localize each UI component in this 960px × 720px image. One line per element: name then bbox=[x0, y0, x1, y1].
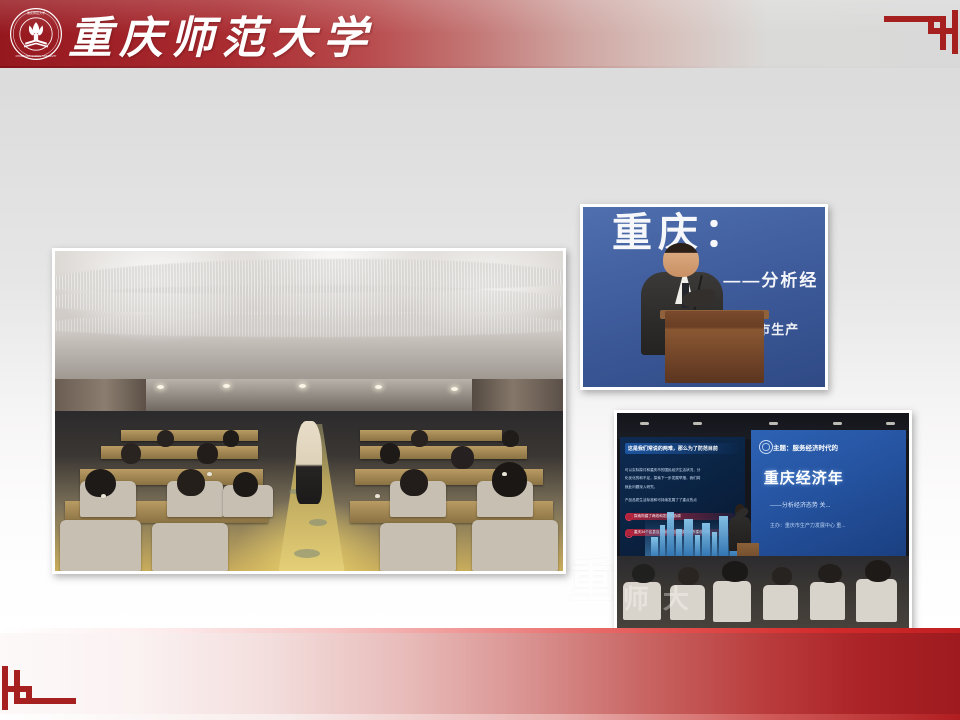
attendee-head bbox=[411, 430, 428, 447]
person-walking-aisle bbox=[296, 421, 321, 504]
ceiling-wave bbox=[55, 311, 563, 337]
downlight bbox=[299, 384, 306, 388]
downlight bbox=[223, 384, 230, 388]
meander-ornament-top-right-icon bbox=[864, 8, 960, 58]
attendee-head bbox=[678, 567, 698, 585]
building bbox=[702, 523, 710, 560]
attendee-head bbox=[400, 469, 428, 496]
emblem-ring-icon bbox=[759, 440, 773, 454]
attendee-head bbox=[85, 469, 115, 498]
attendee-head bbox=[177, 469, 205, 496]
chair bbox=[623, 582, 661, 620]
chair bbox=[856, 579, 897, 622]
slide-host: 主办：重庆市生产力发展中心 重... bbox=[770, 522, 846, 529]
attendee-head bbox=[772, 567, 792, 585]
slide-title: 重庆经济年 bbox=[764, 467, 844, 488]
slide-topic: 主题：服务经济时代的 bbox=[773, 442, 838, 452]
attendee-head bbox=[632, 564, 655, 583]
svg-text:重庆师范大学: 重庆师范大学 bbox=[27, 10, 45, 15]
attendee-head bbox=[233, 472, 258, 498]
slide-paragraph: 可以实际探讨和重庆市的国民经济生活状况，分 bbox=[625, 468, 738, 473]
building bbox=[667, 512, 675, 560]
attendee-head bbox=[492, 462, 528, 497]
page-header: 重庆师范大学 CHONGQING NORMAL UNIVERSITY 重庆师范大… bbox=[0, 0, 960, 68]
university-seal-icon: 重庆师范大学 CHONGQING NORMAL UNIVERSITY bbox=[9, 7, 63, 61]
svg-text:CHONGQING NORMAL UNIVERSITY: CHONGQING NORMAL UNIVERSITY bbox=[16, 55, 57, 58]
photo-speaker-at-podium[interactable]: 重庆： ——分析经 市生产 bbox=[580, 204, 828, 390]
backdrop-title-line2: ——分析经 bbox=[723, 266, 818, 291]
slide-subtitle: ——分析经济态势 关... bbox=[770, 500, 831, 509]
attendee-head bbox=[157, 430, 174, 447]
attendee-head bbox=[865, 560, 891, 582]
attendee-head bbox=[722, 561, 748, 582]
attendee-head bbox=[121, 443, 141, 464]
chair bbox=[670, 585, 705, 620]
downlight bbox=[640, 422, 649, 425]
speaker-head bbox=[663, 243, 699, 277]
attendee-head bbox=[380, 443, 400, 464]
slide-heading: 这是我们常说的两难，那么为了防范目前 bbox=[625, 443, 741, 454]
city-skyline-graphic bbox=[645, 503, 743, 560]
footer-base-rule bbox=[0, 714, 960, 720]
presentation-scene: 这是我们常说的两难，那么为了防范目前 可以实际探讨和重庆市的国民经济生活状况，分… bbox=[617, 413, 909, 629]
teapot bbox=[101, 494, 106, 498]
slide-paragraph: 化优化的和不足，探索下一步发展举措，我们将 bbox=[625, 476, 738, 481]
page-footer bbox=[0, 628, 960, 720]
chair bbox=[713, 581, 751, 622]
slide-body: 重 bbox=[0, 68, 960, 608]
audience-area bbox=[617, 556, 909, 629]
photo-image-area: 这是我们常说的两难，那么为了防范目前 可以实际探讨和重庆市的国民经济生活状况，分… bbox=[617, 413, 909, 629]
chair bbox=[472, 520, 558, 571]
teapot bbox=[207, 472, 212, 476]
attendee-head bbox=[197, 443, 217, 464]
photo-conference-hall-wide[interactable]: 主题：服务经济时代的数字化重庆及产业上台阶 重庆经济年会2020·12 —分析经… bbox=[52, 248, 566, 574]
attendee-head bbox=[451, 446, 473, 468]
attendee-head bbox=[223, 430, 239, 447]
building bbox=[684, 519, 693, 560]
banquet-table bbox=[360, 430, 502, 441]
downlight bbox=[833, 422, 842, 425]
presentation-slide: 重庆师范大学 CHONGQING NORMAL UNIVERSITY 重庆师范大… bbox=[0, 0, 960, 720]
ceiling bbox=[55, 251, 563, 398]
lectern bbox=[665, 311, 764, 383]
attendee-head bbox=[818, 564, 841, 583]
downlight bbox=[769, 422, 778, 425]
podium-scene: 重庆： ——分析经 市生产 bbox=[583, 207, 825, 387]
hall-scene: 主题：服务经济时代的数字化重庆及产业上台阶 重庆经济年会2020·12 —分析经… bbox=[55, 251, 563, 571]
projection-slide-left: 这是我们常说的两难，那么为了防范目前 可以实际探讨和重庆市的国民经济生活状况，分… bbox=[620, 437, 746, 560]
slide-paragraph: 就此问题深入研究。 bbox=[625, 485, 738, 490]
teapot bbox=[375, 494, 380, 498]
meander-ornament-bottom-left-icon bbox=[0, 662, 96, 712]
photo-image-area: 重庆： ——分析经 市生产 bbox=[583, 207, 825, 387]
downlight bbox=[693, 422, 702, 425]
teapot bbox=[502, 472, 507, 476]
projection-slide-right: 主题：服务经济时代的 重庆经济年 ——分析经济态势 关... 主办：重庆市生产力… bbox=[751, 430, 906, 560]
chair bbox=[810, 582, 845, 620]
chair bbox=[380, 523, 456, 571]
downlight bbox=[886, 422, 895, 425]
photo-image-area: 主题：服务经济时代的数字化重庆及产业上台阶 重庆经济年会2020·12 —分析经… bbox=[55, 251, 563, 571]
photo-hall-with-presentation[interactable]: 这是我们常说的两难，那么为了防范目前 可以实际探讨和重庆市的国民经济生活状况，分… bbox=[614, 410, 912, 632]
chair bbox=[60, 520, 141, 571]
footer-accent-rule bbox=[0, 628, 960, 633]
university-name-title: 重庆师范大学 bbox=[68, 3, 374, 65]
chair bbox=[763, 585, 798, 620]
chair bbox=[152, 523, 228, 571]
building bbox=[719, 516, 728, 560]
